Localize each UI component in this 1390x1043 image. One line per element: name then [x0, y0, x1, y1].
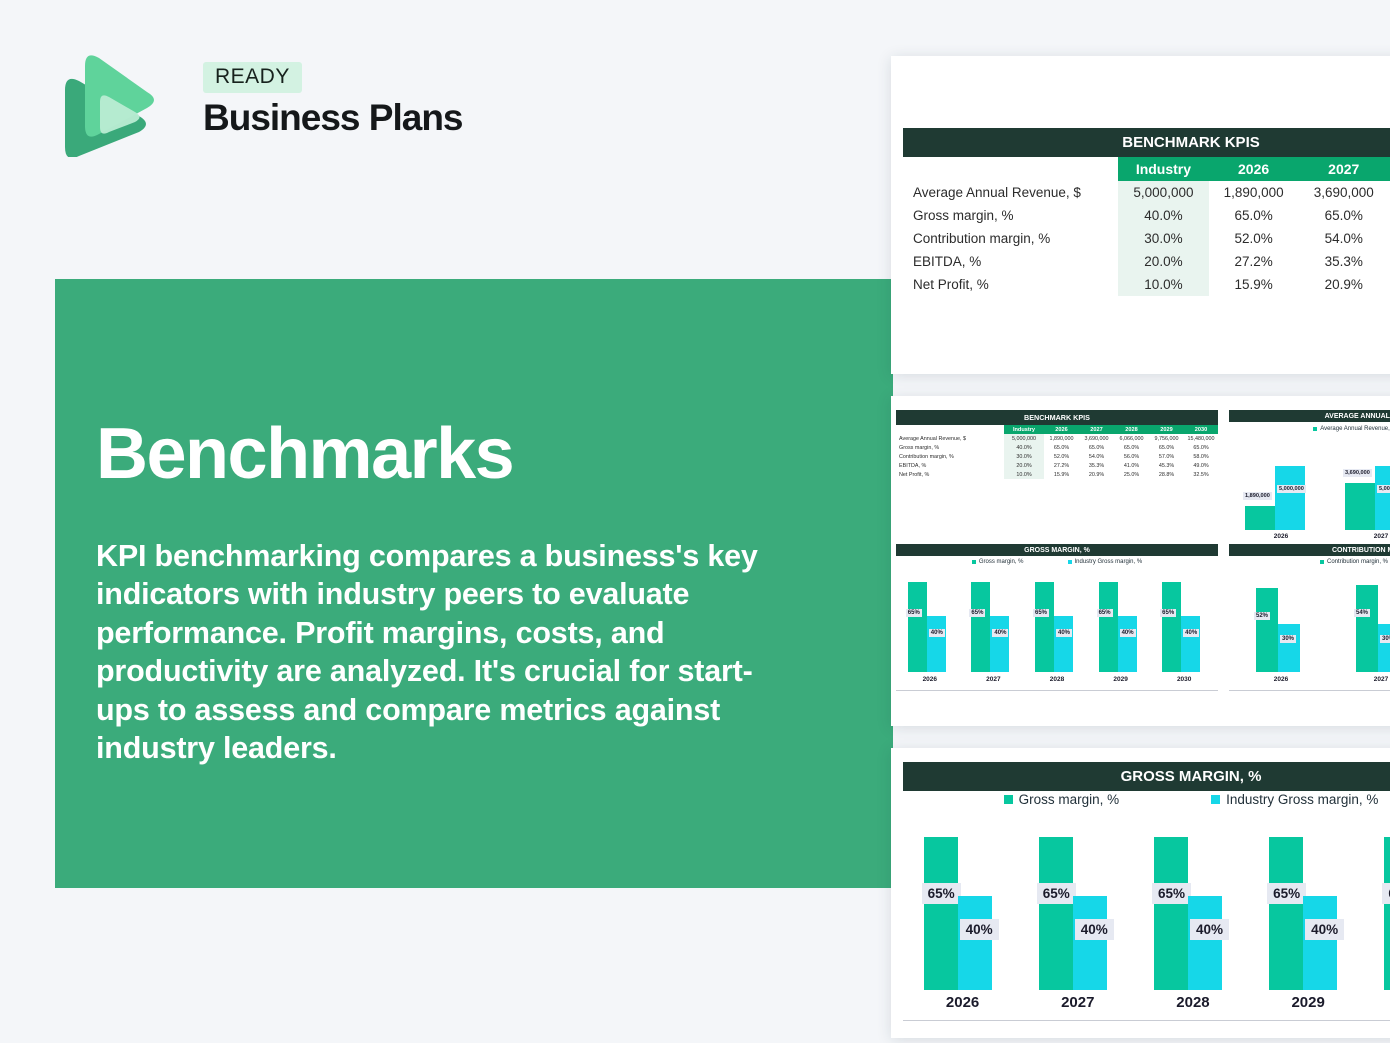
kpi-year-value: 3,690,000 [1299, 181, 1389, 204]
hero-panel: Benchmarks KPI benchmarking compares a b… [55, 279, 893, 888]
bar-secondary: 40% [1181, 616, 1200, 672]
page-description: KPI benchmarking compares a business's k… [96, 537, 776, 768]
bar-secondary: 30% [1278, 624, 1300, 672]
kpi-year-value: 32.5% [1184, 470, 1218, 479]
revenue-chart-legend: Average Annual Revenue, $ [1229, 426, 1390, 432]
legend-label: Gross margin, % [1019, 792, 1120, 807]
bar-secondary: 40% [1188, 896, 1222, 990]
x-tick-label: 2027 [971, 676, 1015, 683]
legend-item: Industry Gross margin, % [1068, 559, 1143, 565]
bar-secondary: 30% [1378, 624, 1390, 672]
legend-item: Contribution margin, % [1320, 559, 1388, 565]
kpi-industry-value: 40.0% [1004, 443, 1044, 452]
kpi-industry-value: 5,000,000 [1004, 434, 1044, 443]
gross-margin-chart-xaxis: 20262027202820292030 [905, 994, 1390, 1011]
bar-value-label: 5,000,000 [1377, 485, 1390, 493]
kpi-year-value: 9,756,000 [1149, 434, 1184, 443]
kpi-year-value: 15,480,000 [1184, 434, 1218, 443]
table-row: Net Profit, %10.0%15.9%20.9%25.0% [903, 273, 1390, 296]
legend-swatch-icon [1068, 560, 1072, 564]
kpi-industry-value: 10.0% [1118, 273, 1208, 296]
bar-primary: 52% [1256, 588, 1278, 672]
contribution-margin-mini-title: CONTRIBUTION MARGIN, % [1229, 544, 1390, 556]
kpi-col-2027: 2027 [1299, 157, 1389, 181]
x-tick-label: 2028 [1035, 676, 1079, 683]
kpi-col-blank [903, 157, 1118, 181]
kpi-row-label: EBITDA, % [903, 250, 1118, 273]
kpi-year-value: 45.3% [1149, 461, 1184, 470]
bar-secondary: 40% [958, 896, 992, 990]
gross-margin-mini-legend: Gross margin, % Industry Gross margin, % [896, 559, 1218, 565]
bar-primary: 65% [1162, 582, 1181, 672]
kpi-year-value: 57.0% [1149, 452, 1184, 461]
kpi-year-value: 1,890,000 [1044, 434, 1079, 443]
kpi-year-value: 28.8% [1149, 470, 1184, 479]
kpi-row-label: Gross margin, % [903, 204, 1118, 227]
bar-value-label: 40% [929, 629, 945, 637]
bar-secondary: 40% [990, 616, 1009, 672]
bar-value-label: 65% [1382, 883, 1390, 904]
bar-group: 65%40% [908, 572, 952, 672]
gross-margin-mini-plot: 65%40%65%40%65%40%65%40%65%40% [898, 572, 1216, 672]
bar-primary: 65% [908, 582, 927, 672]
axis-line [1229, 690, 1390, 691]
kpi-col-2030: 2030 [1184, 425, 1218, 434]
kpi-year-value: 6,066,000 [1114, 434, 1149, 443]
kpi-row-label: Average Annual Revenue, $ [903, 181, 1118, 204]
mini-kpi-header-row: Industry20262027202820292030 [896, 425, 1218, 434]
bar-primary: 65% [1269, 837, 1303, 990]
bar-value-label: 40% [992, 629, 1008, 637]
bar-group: 65%40% [1035, 572, 1079, 672]
bar-primary: 1,890,000 [1245, 506, 1275, 530]
x-tick-label: 2030 [1384, 994, 1390, 1011]
kpi-year-value: 65.0% [1079, 443, 1114, 452]
kpi-sheet: BENCHMARK KPIS Industry202620272028 Aver… [903, 128, 1390, 296]
bar-value-label: 65% [1152, 883, 1191, 904]
brand-wordmark: READY Business Plans [203, 62, 463, 138]
bar-secondary: 40% [1054, 616, 1073, 672]
table-row: Gross margin, %40.0%65.0%65.0%65.0%65.0%… [896, 443, 1218, 452]
bar-group: 65%40% [1039, 820, 1117, 990]
kpi-year-value: 65.0% [1299, 204, 1389, 227]
kpi-year-value: 3,690,000 [1079, 434, 1114, 443]
bar-value-label: 65% [1033, 609, 1049, 617]
kpi-industry-value: 20.0% [1118, 250, 1208, 273]
kpi-year-value: 52.0% [1209, 227, 1299, 250]
bar-group: 52%30% [1256, 572, 1306, 672]
kpi-year-value: 49.0% [1184, 461, 1218, 470]
gross-margin-chart-card: GROSS MARGIN, % Gross margin, % Industry… [891, 748, 1390, 1038]
kpi-year-value: 20.9% [1079, 470, 1114, 479]
bar-value-label: 3,690,000 [1343, 469, 1372, 477]
ready-badge: READY [203, 62, 302, 93]
bar-value-label: 40% [1056, 629, 1072, 637]
axis-line [896, 690, 1218, 691]
legend-item: Average Annual Revenue, $ [1313, 426, 1390, 432]
kpi-year-value: 65.0% [1209, 204, 1299, 227]
dashboard-overview-card: BENCHMARK KPIS Industry20262027202820292… [891, 396, 1390, 726]
legend-swatch-icon [1320, 560, 1324, 564]
bar-value-label: 65% [1097, 609, 1113, 617]
x-tick-label: 2030 [1162, 676, 1206, 683]
mini-kpi-table-title: BENCHMARK KPIS [896, 410, 1218, 425]
kpi-industry-value: 40.0% [1118, 204, 1208, 227]
kpi-year-value: 41.0% [1114, 461, 1149, 470]
kpi-year-value: 15.9% [1044, 470, 1079, 479]
bar-group: 3,690,0005,000,000 [1345, 440, 1390, 530]
bar-group: 65%40% [924, 820, 1002, 990]
table-row: Contribution margin, %30.0%52.0%54.0%56.… [896, 452, 1218, 461]
bar-value-label: 5,000,000 [1277, 485, 1306, 493]
bar-value-label: 40% [1183, 629, 1199, 637]
gross-margin-mini-title: GROSS MARGIN, % [896, 544, 1218, 556]
bar-value-label: 1,890,000 [1243, 492, 1272, 500]
kpi-col-2028: 2028 [1114, 425, 1149, 434]
bar-group: 65%40% [1099, 572, 1143, 672]
legend-swatch-icon [1313, 427, 1317, 431]
legend-item: Industry Gross margin, % [1211, 792, 1378, 807]
kpi-row-label: Net Profit, % [896, 470, 1004, 479]
legend-label: Industry Gross margin, % [1226, 792, 1378, 807]
bar-value-label: 30% [1380, 635, 1390, 643]
kpi-year-value: 35.3% [1079, 461, 1114, 470]
bar-value-label: 65% [1160, 609, 1176, 617]
x-tick-label: 2029 [1099, 676, 1143, 683]
bar-secondary: 40% [1073, 896, 1107, 990]
bar-secondary: 5,000,000 [1275, 466, 1305, 530]
kpi-year-value: 65.0% [1114, 443, 1149, 452]
kpi-col-2026: 2026 [1044, 425, 1079, 434]
kpi-year-value: 65.0% [1149, 443, 1184, 452]
bar-group: 65%40% [1162, 572, 1206, 672]
gross-margin-chart-plot: 65%40%65%40%65%40%65%40%65%40% [905, 820, 1390, 990]
contribution-margin-mini-xaxis: 202620272028 [1231, 676, 1390, 683]
gross-margin-chart-legend: Gross margin, % Industry Gross margin, % [903, 792, 1390, 807]
kpi-year-value: 27.2% [1044, 461, 1079, 470]
bar-value-label: 65% [922, 883, 961, 904]
x-tick-label: 2027 [1356, 676, 1390, 683]
benchmark-kpi-table-card: BENCHMARK KPIS Industry202620272028 Aver… [891, 56, 1390, 374]
kpi-industry-value: 30.0% [1004, 452, 1044, 461]
legend-label: Contribution margin, % [1327, 559, 1388, 565]
bar-value-label: 40% [960, 919, 999, 940]
bar-group: 65%40% [1269, 820, 1347, 990]
kpi-year-value: 20.9% [1299, 273, 1389, 296]
kpi-row-label: Gross margin, % [896, 443, 1004, 452]
bar-value-label: 52% [1254, 612, 1270, 620]
bar-value-label: 40% [1305, 919, 1344, 940]
page-title: Benchmarks [96, 418, 513, 490]
bar-group: 65%40% [1384, 820, 1390, 990]
x-tick-label: 2026 [924, 994, 1002, 1011]
bar-primary: 65% [924, 837, 958, 990]
mini-kpi-sheet: BENCHMARK KPIS Industry20262027202820292… [896, 410, 1226, 479]
bar-value-label: 30% [1280, 635, 1296, 643]
bar-primary: 54% [1356, 585, 1378, 672]
kpi-year-value: 54.0% [1299, 227, 1389, 250]
kpi-row-label: Contribution margin, % [896, 452, 1004, 461]
x-tick-label: 2026 [908, 676, 952, 683]
x-tick-label: 2027 [1039, 994, 1117, 1011]
bar-primary: 65% [1154, 837, 1188, 990]
legend-swatch-icon [972, 560, 976, 564]
kpi-col-industry: Industry [1118, 157, 1208, 181]
bar-secondary: 40% [927, 616, 946, 672]
x-tick-label: 2026 [1256, 676, 1306, 683]
kpi-row-label: EBITDA, % [896, 461, 1004, 470]
kpi-row-label: Average Annual Revenue, $ [896, 434, 1004, 443]
contribution-margin-mini-legend: Contribution margin, % [1229, 559, 1390, 565]
kpi-row-label: Net Profit, % [903, 273, 1118, 296]
legend-label: Gross margin, % [979, 559, 1024, 565]
kpi-year-value: 58.0% [1184, 452, 1218, 461]
kpi-year-value: 27.2% [1209, 250, 1299, 273]
legend-swatch-icon [1211, 795, 1220, 804]
mini-kpi-table: Industry20262027202820292030 Average Ann… [896, 425, 1218, 479]
bar-primary: 3,690,000 [1345, 483, 1375, 530]
bar-value-label: 65% [1037, 883, 1076, 904]
kpi-year-value: 25.0% [1114, 470, 1149, 479]
kpi-col-2027: 2027 [1079, 425, 1114, 434]
kpi-industry-value: 5,000,000 [1118, 181, 1208, 204]
bar-primary: 65% [1035, 582, 1054, 672]
kpi-year-value: 56.0% [1114, 452, 1149, 461]
x-tick-label: 2029 [1269, 994, 1347, 1011]
bar-value-label: 54% [1354, 609, 1370, 617]
bar-value-label: 40% [1190, 919, 1229, 940]
gross-margin-mini-xaxis: 20262027202820292030 [898, 676, 1216, 683]
bar-group: 54%30% [1356, 572, 1390, 672]
bar-primary: 65% [971, 582, 990, 672]
bar-value-label: 65% [906, 609, 922, 617]
kpi-year-value: 15.9% [1209, 273, 1299, 296]
kpi-table: Industry202620272028 Average Annual Reve… [903, 157, 1390, 296]
axis-line [903, 1020, 1390, 1021]
legend-item: Gross margin, % [972, 559, 1024, 565]
kpi-col-2029: 2029 [1149, 425, 1184, 434]
table-row: EBITDA, %20.0%27.2%35.3%41.0%45.3%49.0% [896, 461, 1218, 470]
table-row: EBITDA, %20.0%27.2%35.3%41.0% [903, 250, 1390, 273]
table-row: Average Annual Revenue, $5,000,0001,890,… [903, 181, 1390, 204]
bar-primary: 65% [1099, 582, 1118, 672]
kpi-col-blank [896, 425, 1004, 434]
brand-name: Business Plans [203, 99, 463, 138]
legend-item: Gross margin, % [1004, 792, 1120, 807]
bar-group: 1,890,0005,000,000 [1245, 440, 1317, 530]
bar-primary: 65% [1039, 837, 1073, 990]
kpi-table-header-row: Industry202620272028 [903, 157, 1390, 181]
brand-logo: READY Business Plans [55, 50, 475, 160]
kpi-year-value: 65.0% [1184, 443, 1218, 452]
x-tick-label: 2028 [1154, 994, 1232, 1011]
contribution-margin-mini-plot: 52%30%54%30%56% [1231, 572, 1390, 672]
x-tick-label: 2027 [1345, 533, 1390, 540]
revenue-chart-xaxis: 202620272028 [1231, 533, 1390, 540]
kpi-col-2026: 2026 [1209, 157, 1299, 181]
table-row: Net Profit, %10.0%15.9%20.9%25.0%28.8%32… [896, 470, 1218, 479]
bar-value-label: 40% [1075, 919, 1114, 940]
kpi-year-value: 35.3% [1299, 250, 1389, 273]
kpi-industry-value: 10.0% [1004, 470, 1044, 479]
kpi-year-value: 54.0% [1079, 452, 1114, 461]
table-row: Gross margin, %40.0%65.0%65.0%65.0% [903, 204, 1390, 227]
bar-value-label: 40% [1120, 629, 1136, 637]
kpi-col-industry: Industry [1004, 425, 1044, 434]
kpi-row-label: Contribution margin, % [903, 227, 1118, 250]
kpi-year-value: 52.0% [1044, 452, 1079, 461]
x-tick-label: 2026 [1245, 533, 1317, 540]
gross-margin-chart-title: GROSS MARGIN, % [903, 762, 1390, 791]
bar-primary: 65% [1384, 837, 1390, 990]
table-row: Contribution margin, %30.0%52.0%54.0%56.… [903, 227, 1390, 250]
legend-swatch-icon [1004, 795, 1013, 804]
bar-group: 65%40% [1154, 820, 1232, 990]
bar-value-label: 65% [969, 609, 985, 617]
legend-label: Average Annual Revenue, $ [1320, 426, 1390, 432]
legend-label: Industry Gross margin, % [1075, 559, 1143, 565]
bar-secondary: 40% [1303, 896, 1337, 990]
play-triangle-logo-icon [55, 52, 155, 157]
kpi-industry-value: 20.0% [1004, 461, 1044, 470]
kpi-industry-value: 30.0% [1118, 227, 1208, 250]
kpi-table-title: BENCHMARK KPIS [903, 128, 1390, 157]
bar-group: 65%40% [971, 572, 1015, 672]
table-row: Average Annual Revenue, $5,000,0001,890,… [896, 434, 1218, 443]
kpi-year-value: 65.0% [1044, 443, 1079, 452]
revenue-chart-plot: 1,890,0005,000,0003,690,0005,000,0006,06… [1231, 440, 1390, 530]
kpi-year-value: 1,890,000 [1209, 181, 1299, 204]
revenue-chart-title: AVERAGE ANNUAL REVENUE, $ [1229, 410, 1390, 422]
bar-secondary: 40% [1118, 616, 1137, 672]
bar-secondary: 5,000,000 [1375, 466, 1390, 530]
bar-value-label: 65% [1267, 883, 1306, 904]
